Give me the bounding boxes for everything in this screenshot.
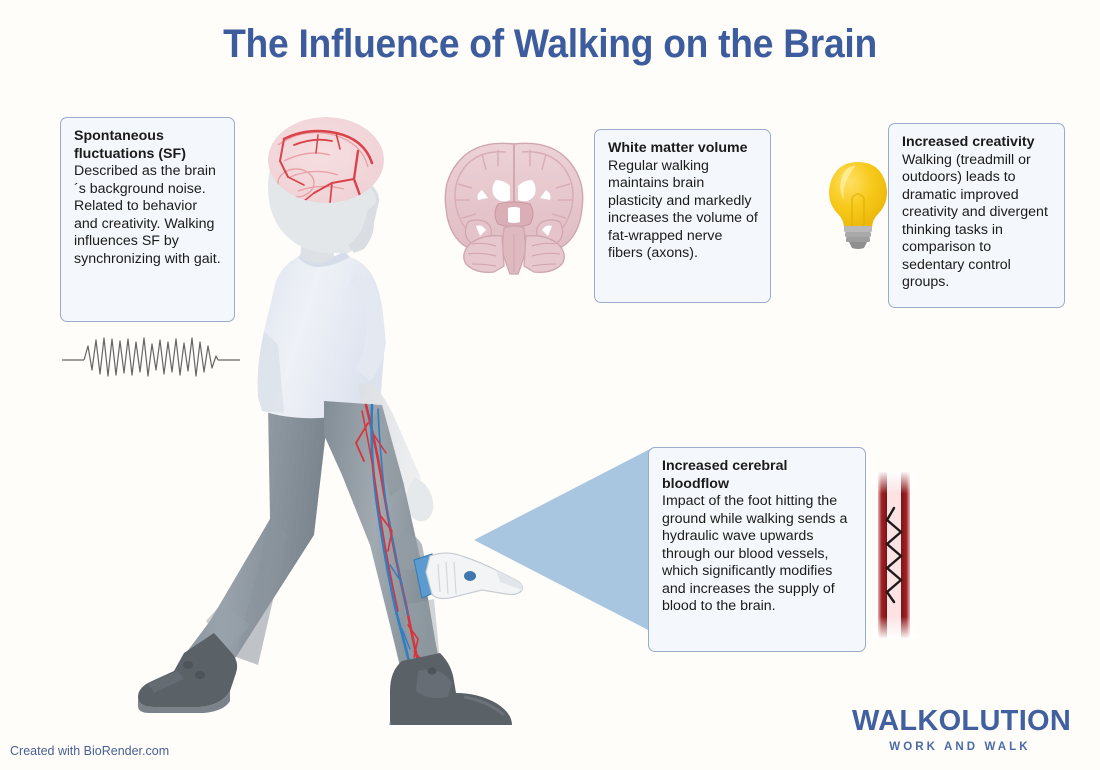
eeg-waveform-icon [62, 330, 240, 384]
infographic-canvas: The Influence of Walking on the Brain [0, 0, 1100, 770]
infobox-white-matter-volume[interactable]: White matter volume Regular walking main… [594, 129, 771, 303]
brain-coronal-section-icon [438, 138, 590, 280]
blood-vessel-icon [872, 472, 916, 638]
person-back-shoe [138, 633, 237, 713]
person-front-leg [324, 401, 444, 687]
infobox-increased-creativity[interactable]: Increased creativity Walking (treadmill … [888, 123, 1065, 308]
infobox-spontaneous-fluctuations[interactable]: Spontaneous fluctuations (SF) Described … [60, 117, 235, 322]
infobox-heading: Increased cerebral bloodflow [662, 458, 854, 493]
page-title: The Influence of Walking on the Brain [39, 22, 1062, 67]
lightbulb-icon [822, 158, 894, 250]
infobox-heading: Spontaneous fluctuations (SF) [74, 128, 223, 163]
infobox-heading: Increased creativity [902, 134, 1053, 152]
biorender-credit: Created with BioRender.com [10, 744, 169, 758]
walkolution-logo: WALKOLUTION WORK AND WALK [852, 707, 1068, 753]
infobox-body: Regular walking maintains brain plastici… [608, 158, 759, 263]
logo-wordmark: WALKOLUTION [852, 707, 1068, 736]
logo-tagline: WORK AND WALK [852, 741, 1068, 753]
infobox-increased-cerebral-bloodflow[interactable]: Increased cerebral bloodflow Impact of t… [648, 447, 866, 652]
ultrasound-probe-icon [414, 553, 522, 599]
infobox-heading: White matter volume [608, 140, 759, 158]
infobox-body: Walking (treadmill or outdoors) leads to… [902, 152, 1053, 292]
person-head [268, 117, 384, 263]
person-front-shoe [388, 653, 512, 725]
person-back-leg [180, 397, 330, 681]
infobox-body: Impact of the foot hitting the ground wh… [662, 493, 854, 616]
brain-sagittal-icon [268, 117, 384, 203]
infobox-body: Described as the brain´s background nois… [74, 163, 223, 268]
